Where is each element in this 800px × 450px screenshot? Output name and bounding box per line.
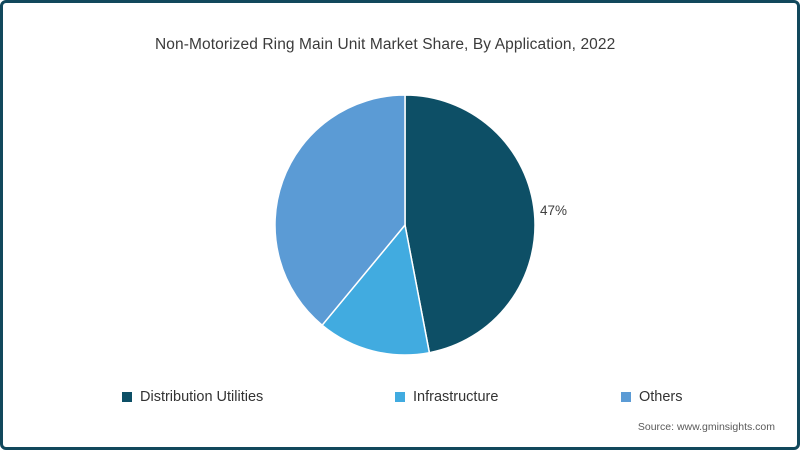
- pie-chart-svg: [3, 3, 800, 450]
- legend-item-label: Distribution Utilities: [140, 389, 263, 405]
- legend-item-infrastructure[interactable]: Infrastructure: [395, 389, 498, 405]
- pie-slice[interactable]: [405, 95, 535, 353]
- pie-chart: [3, 3, 800, 450]
- legend-item-others[interactable]: Others: [621, 389, 683, 405]
- legend-item-label: Infrastructure: [413, 389, 498, 405]
- legend-item-distribution-utilities[interactable]: Distribution Utilities: [122, 389, 263, 405]
- legend-item-label: Others: [639, 389, 683, 405]
- legend-swatch-icon: [395, 392, 405, 402]
- legend: Distribution Utilities Infrastructure Ot…: [3, 389, 800, 413]
- pie-slice-group: [275, 95, 535, 355]
- source-attribution: Source: www.gminsights.com: [638, 421, 775, 433]
- legend-swatch-icon: [621, 392, 631, 402]
- legend-swatch-icon: [122, 392, 132, 402]
- chart-card: Non-Motorized Ring Main Unit Market Shar…: [0, 0, 800, 450]
- slice-value-label: 47%: [540, 203, 567, 218]
